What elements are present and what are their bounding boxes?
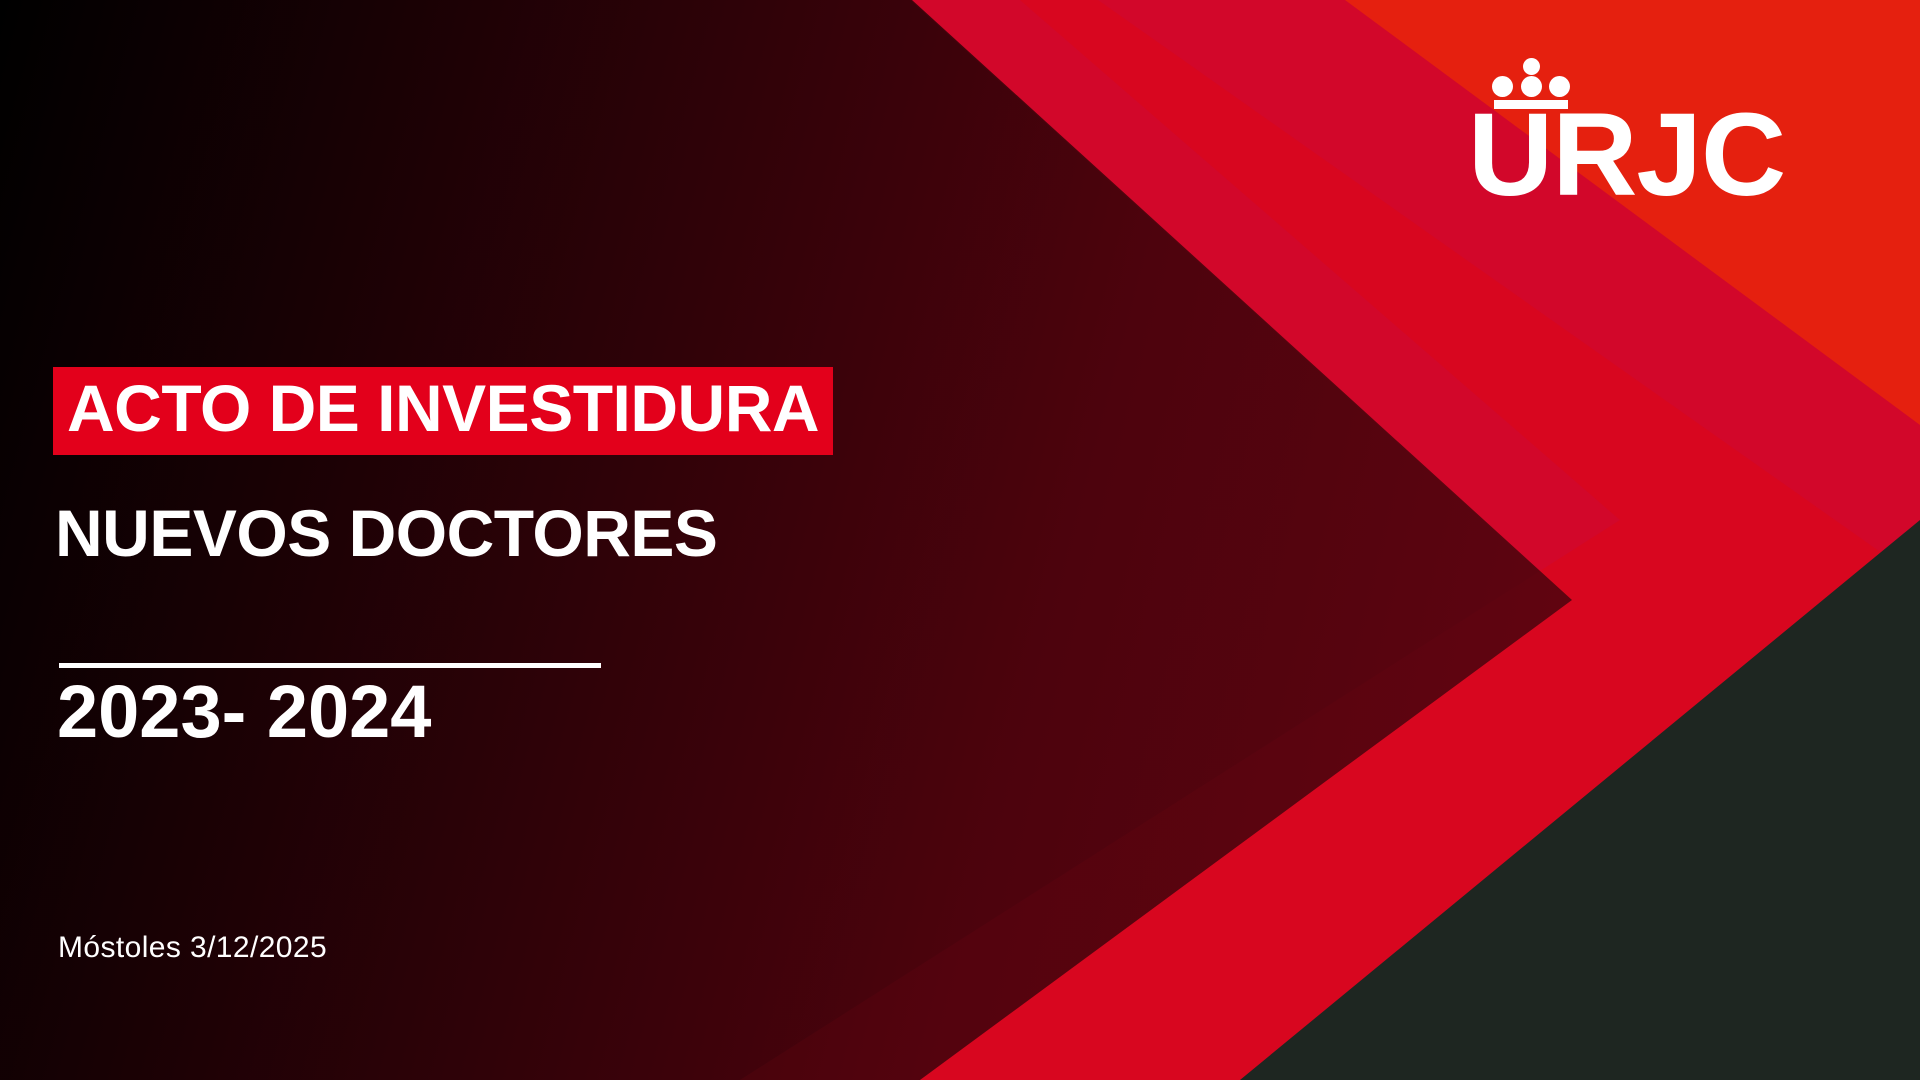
place-and-date: Móstoles 3/12/2025 bbox=[58, 933, 327, 963]
presentation-slide: URJC ACTO DE INVESTIDURA NUEVOS DOCTORES… bbox=[0, 0, 1920, 1080]
urjc-wordmark: URJC bbox=[1468, 96, 1785, 214]
title-banner: ACTO DE INVESTIDURA bbox=[53, 367, 833, 455]
divider-rule bbox=[59, 663, 601, 668]
academic-years: 2023- 2024 bbox=[57, 675, 431, 749]
crown-ball-top bbox=[1523, 58, 1540, 75]
subtitle-text: NUEVOS DOCTORES bbox=[55, 500, 717, 566]
title-banner-text: ACTO DE INVESTIDURA bbox=[67, 375, 819, 441]
urjc-logo: URJC bbox=[1468, 58, 1798, 218]
